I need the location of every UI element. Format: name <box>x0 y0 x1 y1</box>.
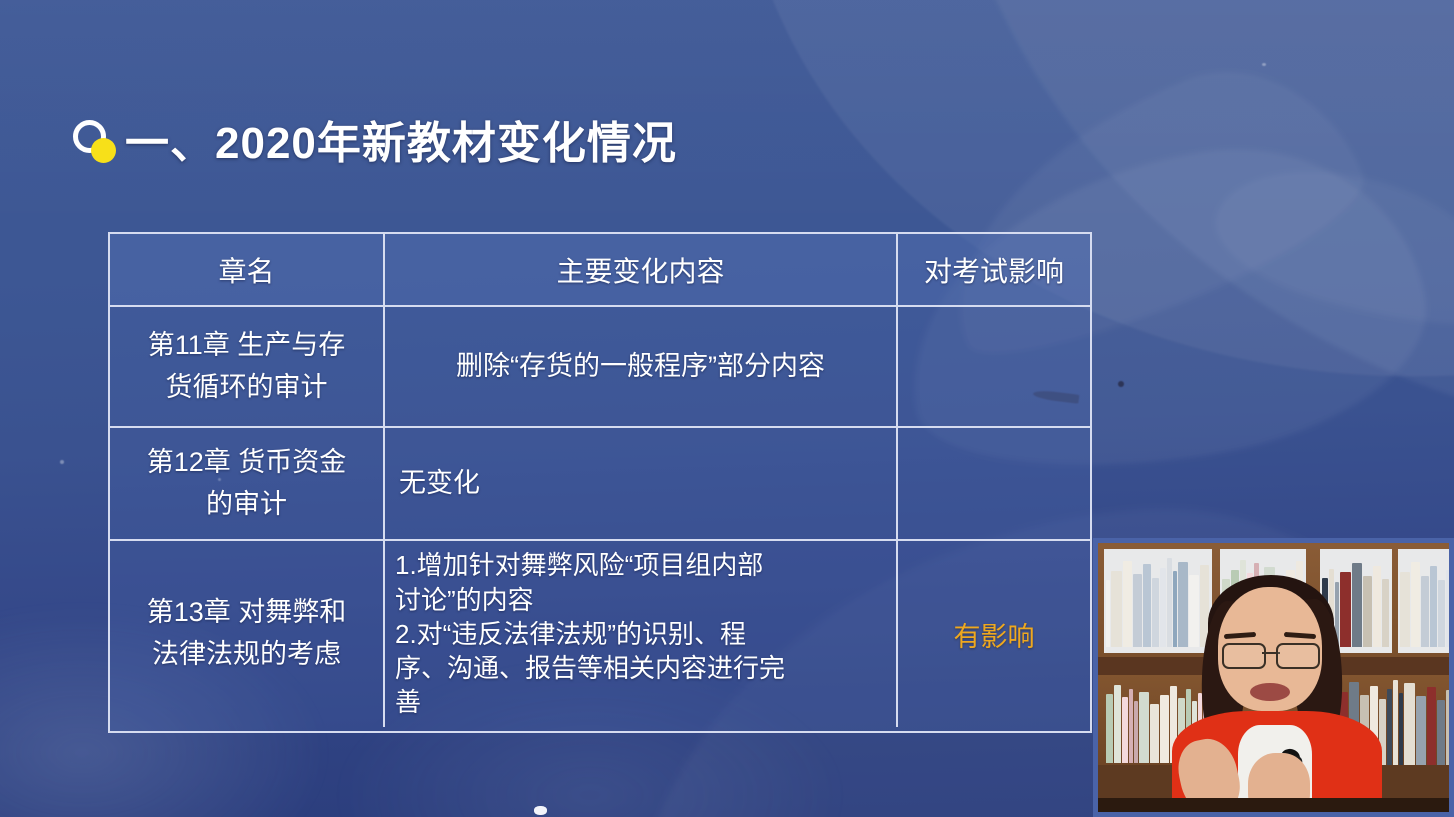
decorative-bird-eye <box>1118 381 1124 387</box>
yellow-dot-shape <box>91 138 116 163</box>
decorative-dot-artifact <box>534 806 547 815</box>
column-header-content: 主要变化内容 <box>383 234 896 305</box>
decorative-speck <box>60 460 64 464</box>
page-title: 一、2020年新教材变化情况 <box>125 107 677 171</box>
cell-content: 1.增加针对舞弊风险“项目组内部 讨论”的内容 2.对“违反法律法规”的识别、程… <box>383 541 896 727</box>
table-row: 第12章 货币资金 的审计 无变化 <box>110 426 1090 539</box>
decorative-speck <box>1262 63 1266 66</box>
table-row: 第11章 生产与存 货循环的审计 删除“存货的一般程序”部分内容 <box>110 305 1090 426</box>
books-row <box>1106 557 1210 647</box>
glasses-lens-right <box>1276 643 1320 669</box>
cell-impact <box>896 307 1090 426</box>
cell-content: 无变化 <box>383 428 896 539</box>
column-header-impact: 对考试影响 <box>896 234 1090 305</box>
books-row <box>1400 557 1449 647</box>
table-header-row: 章名 主要变化内容 对考试影响 <box>110 234 1090 305</box>
cell-impact <box>896 428 1090 539</box>
circle-dot-icon <box>70 116 116 162</box>
table-row: 第13章 对舞弊和 法律法规的考虑 1.增加针对舞弊风险“项目组内部 讨论”的内… <box>110 539 1090 727</box>
video-bottom-edge <box>1098 798 1449 812</box>
cell-chapter: 第13章 对舞弊和 法律法规的考虑 <box>110 541 383 727</box>
glasses-lens-left <box>1222 643 1266 669</box>
column-header-chapter: 章名 <box>110 234 383 305</box>
cell-content: 删除“存货的一般程序”部分内容 <box>383 307 896 426</box>
decorative-bird-tail <box>1202 141 1454 349</box>
presenter-mouth <box>1250 683 1290 701</box>
presenter-glasses <box>1222 643 1320 665</box>
presentation-slide: 一、2020年新教材变化情况 章名 主要变化内容 对考试影响 第11章 生产与存… <box>0 0 1454 817</box>
cell-chapter: 第11章 生产与存 货循环的审计 <box>110 307 383 426</box>
cell-chapter: 第12章 货币资金 的审计 <box>110 428 383 539</box>
textbook-changes-table: 章名 主要变化内容 对考试影响 第11章 生产与存 货循环的审计 删除“存货的一… <box>108 232 1092 733</box>
cell-impact: 有影响 <box>896 541 1090 727</box>
video-frame <box>1098 543 1449 812</box>
presenter-video-overlay[interactable] <box>1093 538 1454 817</box>
slide-title-row: 一、2020年新教材变化情况 <box>70 107 677 171</box>
